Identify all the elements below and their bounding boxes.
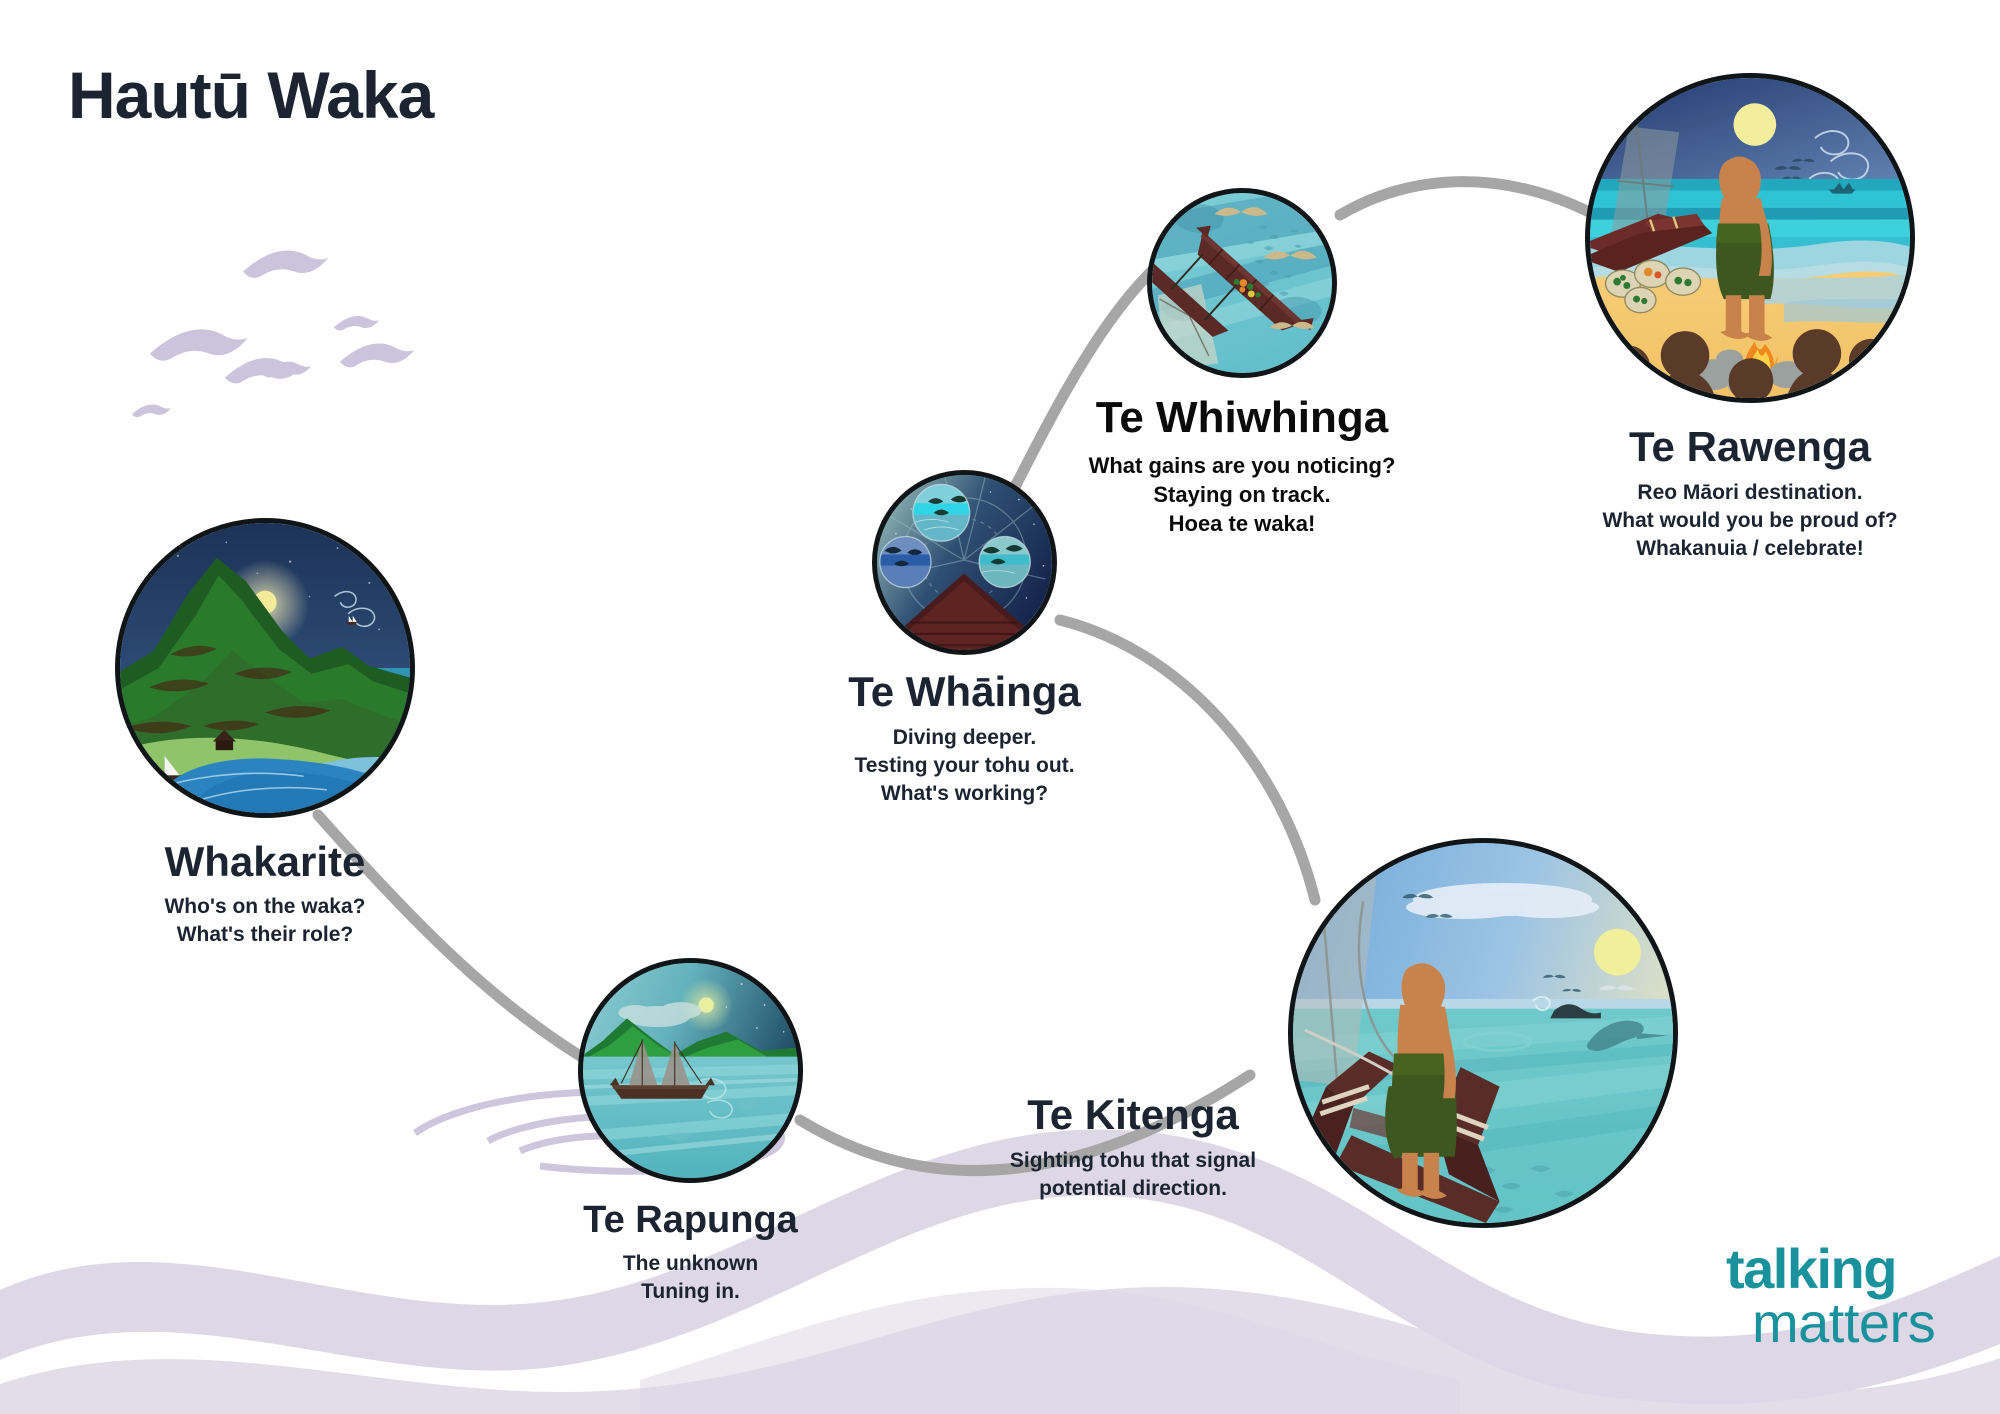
stage-name-te-kitenga: Te Kitenga <box>933 1093 1333 1137</box>
stage-illustration-te-kitenga <box>1288 838 1678 1228</box>
stage-name-whakarite: Whakarite <box>30 840 500 884</box>
stage-desc-te-rawenga: Reo Māori destination. What would you be… <box>1490 479 2000 562</box>
stage-caption-whakarite: Whakarite Who's on the waka? What's thei… <box>30 840 500 949</box>
stage-name-te-whiwhinga: Te Whiwhinga <box>962 395 1522 441</box>
stage-desc-line: Tuning in. <box>463 1278 918 1306</box>
stage-desc-line: What's their role? <box>30 921 500 949</box>
stage-desc-line: Diving deeper. <box>712 724 1217 752</box>
brand-logo-talking-matters: talking matters <box>1726 1243 1958 1363</box>
brand-logo-line-2: matters <box>1752 1297 1958 1349</box>
stage-desc-line: What's working? <box>712 780 1217 808</box>
brand-logo-line-1: talking <box>1726 1243 1958 1295</box>
stage-desc-line: Sighting tohu that signal <box>933 1147 1333 1175</box>
stage-illustration-whakarite <box>115 518 415 818</box>
stage-caption-te-kitenga: Te Kitenga Sighting tohu that signal pot… <box>933 1093 1333 1203</box>
stage-caption-te-rawenga: Te Rawenga Reo Māori destination. What w… <box>1490 425 2000 562</box>
stage-desc-line: Staying on track. <box>962 480 1522 509</box>
stage-desc-line: The unknown <box>463 1250 918 1278</box>
stage-desc-line: Hoea te waka! <box>962 509 1522 538</box>
stage-name-te-whainga: Te Whāinga <box>712 670 1217 714</box>
stage-desc-line: What would you be proud of? <box>1490 507 2000 535</box>
stage-caption-te-whiwhinga: Te Whiwhinga What gains are you noticing… <box>962 395 1522 538</box>
stage-desc-te-whiwhinga: What gains are you noticing? Staying on … <box>962 451 1522 538</box>
stage-name-te-rapunga: Te Rapunga <box>463 1201 918 1241</box>
stage-desc-whakarite: Who's on the waka? What's their role? <box>30 893 500 948</box>
stage-desc-line: potential direction. <box>933 1175 1333 1203</box>
stage-desc-line: What gains are you noticing? <box>962 451 1522 480</box>
stage-illustration-te-rapunga <box>578 958 803 1183</box>
stage-desc-line: Testing your tohu out. <box>712 752 1217 780</box>
stage-illustration-te-rawenga <box>1585 73 1915 403</box>
stage-desc-line: Reo Māori destination. <box>1490 479 2000 507</box>
stage-desc-te-rapunga: The unknown Tuning in. <box>463 1250 918 1305</box>
stage-desc-te-kitenga: Sighting tohu that signal potential dire… <box>933 1147 1333 1202</box>
stage-caption-te-whainga: Te Whāinga Diving deeper. Testing your t… <box>712 670 1217 807</box>
stage-desc-line: Whakanuia / celebrate! <box>1490 535 2000 563</box>
stage-desc-line: Who's on the waka? <box>30 893 500 921</box>
page-title: Hautū Waka <box>68 62 433 128</box>
stage-illustration-te-whiwhinga <box>1147 188 1337 378</box>
stage-desc-te-whainga: Diving deeper. Testing your tohu out. Wh… <box>712 724 1217 807</box>
stage-name-te-rawenga: Te Rawenga <box>1490 425 2000 469</box>
stage-caption-te-rapunga: Te Rapunga The unknown Tuning in. <box>463 1201 918 1305</box>
poster-canvas: Hautū Waka <box>0 0 2000 1414</box>
